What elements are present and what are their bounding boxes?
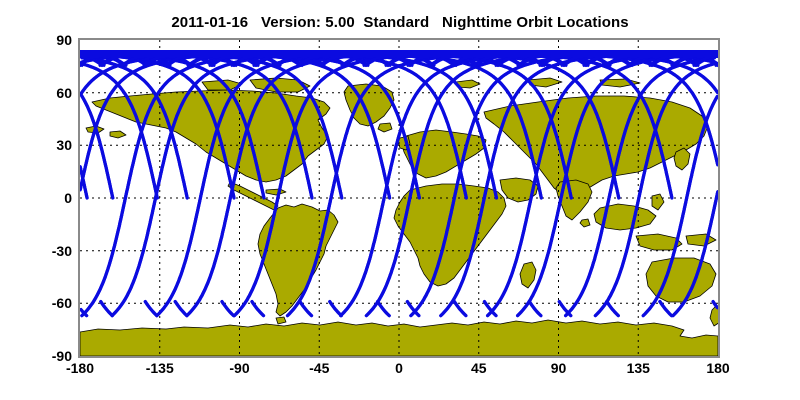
orbit-locations-chart: 2011-01-16 Version: 5.00 Standard Nightt… bbox=[0, 0, 800, 400]
orbit-track-14 bbox=[234, 55, 618, 316]
x-tick-0: 0 bbox=[395, 361, 403, 375]
y-tick--30: -30 bbox=[52, 244, 72, 258]
x-tick--90: -90 bbox=[229, 361, 249, 375]
orbit-track-15 bbox=[288, 55, 672, 316]
x-tick-180: 180 bbox=[706, 361, 729, 375]
orbit-track-8 bbox=[81, 55, 718, 316]
chart-title: 2011-01-16 Version: 5.00 Standard Nightt… bbox=[0, 14, 800, 31]
map-plot-frame bbox=[78, 38, 720, 358]
x-tick-135: 135 bbox=[627, 361, 650, 375]
y-axis-tick-labels: 9060300-30-60-90 bbox=[10, 0, 72, 400]
x-tick--135: -135 bbox=[146, 361, 174, 375]
orbit-track-1 bbox=[81, 55, 718, 316]
x-axis-tick-labels: -180-135-90-4504590135180 bbox=[0, 361, 800, 381]
y-tick-0: 0 bbox=[64, 191, 72, 205]
orbit-track-9 bbox=[80, 55, 718, 316]
orbit-track-15 bbox=[288, 55, 672, 316]
orbit-track-10 bbox=[82, 55, 466, 316]
y-tick--60: -60 bbox=[52, 296, 72, 310]
orbit-track-11 bbox=[112, 55, 496, 316]
orbit-track-14 bbox=[234, 55, 618, 316]
orbit-track-10 bbox=[82, 55, 466, 316]
orbit-ground-tracks bbox=[80, 40, 718, 356]
y-tick-30: 30 bbox=[56, 138, 72, 152]
orbit-track-0 bbox=[80, 55, 718, 316]
orbit-track-13 bbox=[187, 55, 571, 316]
y-tick-60: 60 bbox=[56, 86, 72, 100]
x-tick-90: 90 bbox=[551, 361, 567, 375]
x-tick--45: -45 bbox=[309, 361, 329, 375]
orbit-track-1 bbox=[81, 55, 718, 316]
y-tick-90: 90 bbox=[56, 33, 72, 47]
orbit-track-7 bbox=[82, 55, 714, 316]
orbit-track-12 bbox=[157, 55, 541, 316]
orbit-track-11 bbox=[112, 55, 496, 316]
orbit-track-12 bbox=[157, 55, 541, 316]
orbit-track-8 bbox=[81, 55, 718, 316]
map-plot-area bbox=[80, 40, 718, 356]
x-tick-45: 45 bbox=[471, 361, 487, 375]
orbit-track-9 bbox=[80, 55, 718, 316]
orbit-track-13 bbox=[187, 55, 571, 316]
x-tick--180: -180 bbox=[66, 361, 94, 375]
orbit-track-0 bbox=[80, 55, 718, 316]
